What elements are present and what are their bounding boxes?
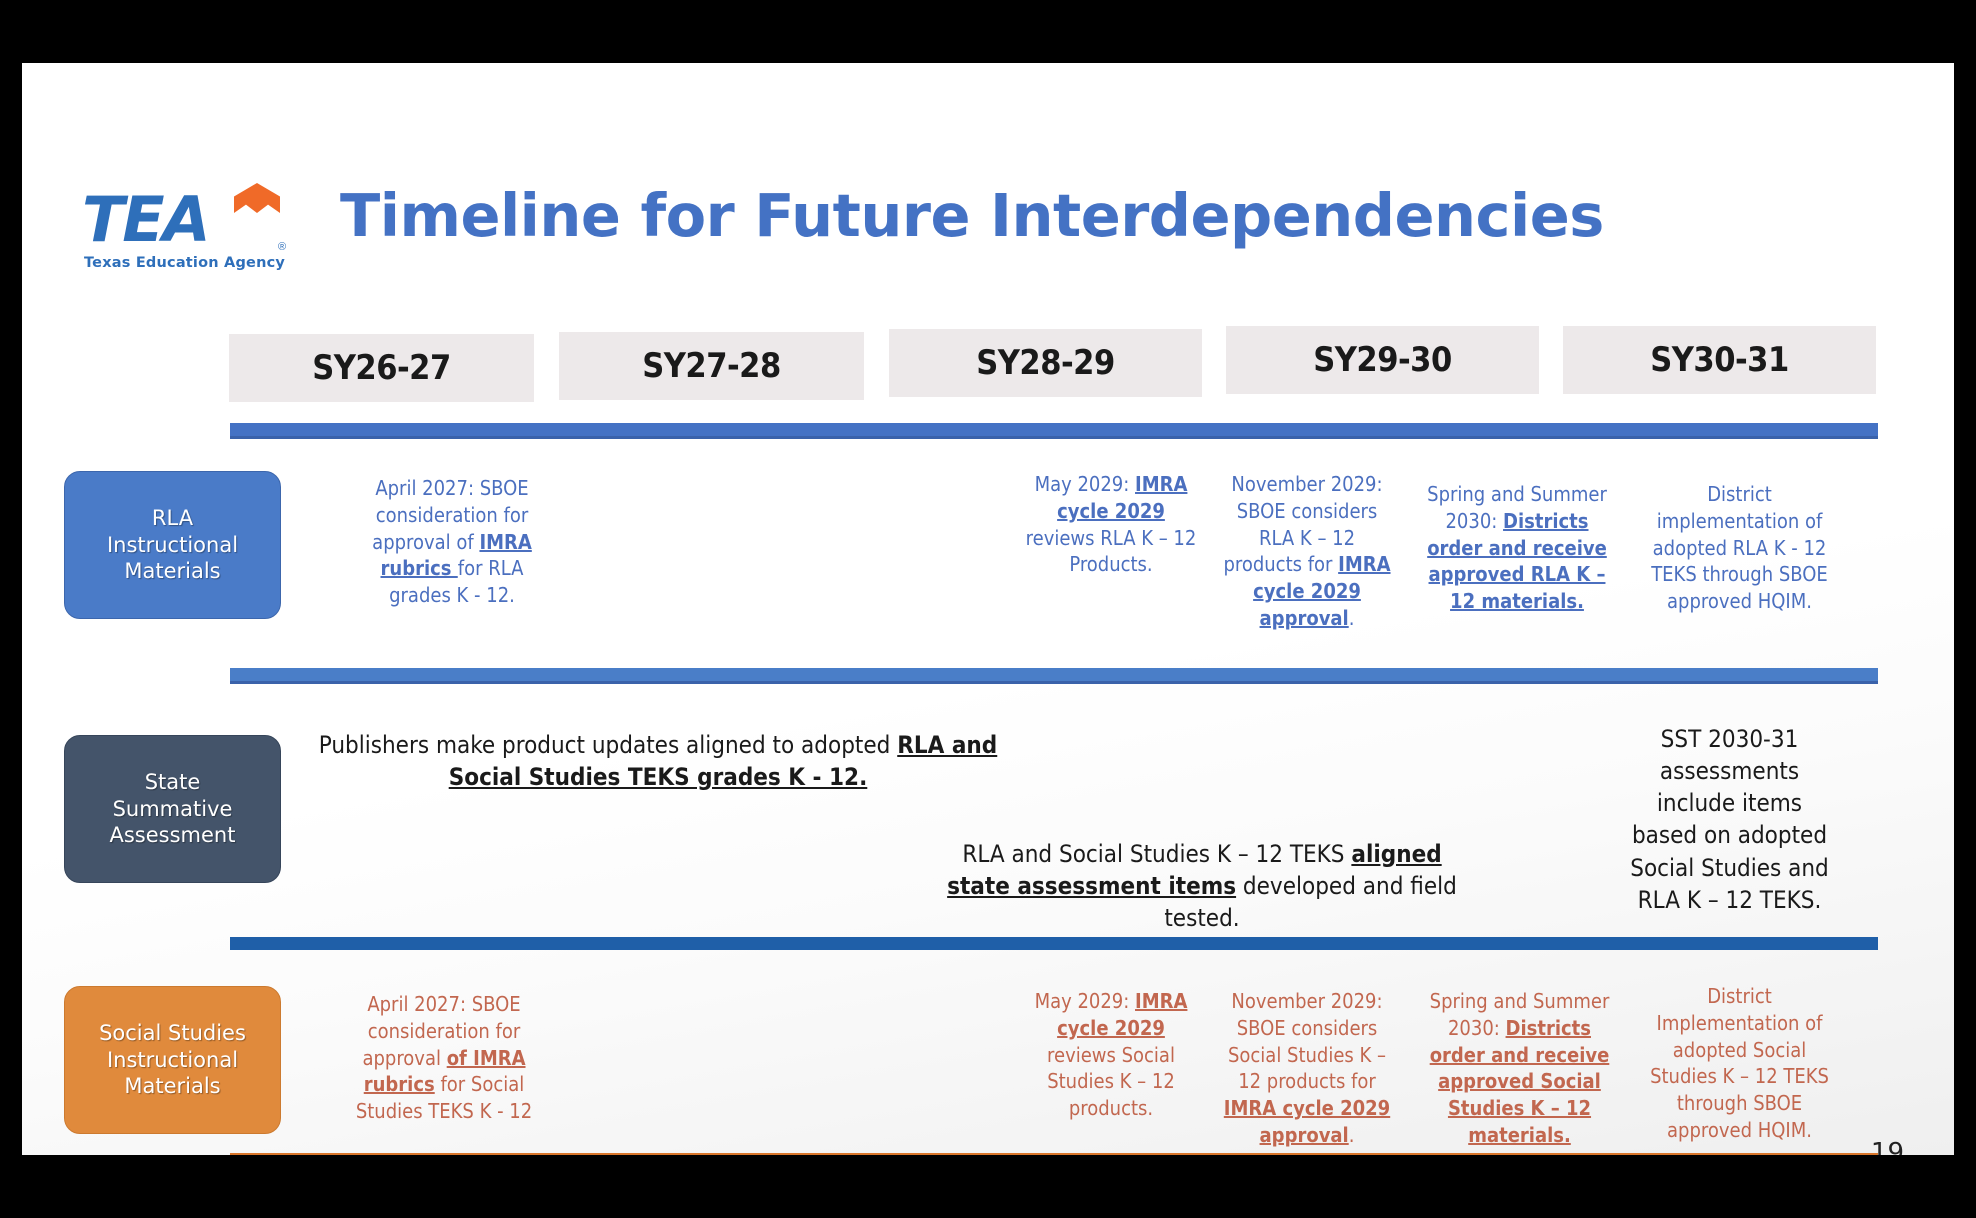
tea-wordmark: TEA xyxy=(82,189,209,251)
registered-trademark-icon: ® xyxy=(278,241,286,253)
pill-line: Summative xyxy=(113,796,233,823)
tea-logo-subtitle: Texas Education Agency xyxy=(84,255,285,271)
divider-bar-top xyxy=(230,423,1878,436)
pill-line: Assessment xyxy=(110,822,236,849)
slide-canvas: TEA ® Texas Education Agency Timeline fo… xyxy=(22,63,1954,1155)
timeline-cell: District Implementation of adopted Socia… xyxy=(1642,983,1837,1144)
timeline-cell: District implementation of adopted RLA K… xyxy=(1642,481,1837,615)
divider-bar-assessment-bottom xyxy=(230,937,1878,950)
divider-bar-social-studies-bottom xyxy=(230,1153,1878,1155)
tea-logo: TEA ® Texas Education Agency xyxy=(82,175,292,275)
timeline-cell: May 2029: IMRA cycle 2029 reviews Social… xyxy=(1022,988,1200,1122)
timeline-cell: Spring and Summer 2030: Districts order … xyxy=(1422,481,1612,615)
year-chip-sy28-29: SY28-29 xyxy=(889,329,1202,397)
year-chip-sy29-30: SY29-30 xyxy=(1226,326,1539,394)
timeline-cell: November 2029: SBOE considers Social Stu… xyxy=(1218,988,1396,1149)
pill-line: State xyxy=(145,769,201,796)
pill-line: Materials xyxy=(124,1073,220,1100)
timeline-cell: April 2027: SBOE consideration for appro… xyxy=(344,991,544,1125)
graduation-cap-icon xyxy=(234,183,280,213)
timeline-cell: April 2027: SBOE consideration for appro… xyxy=(352,475,552,609)
category-pill-rla-instructional-materials: RLA Instructional Materials xyxy=(64,471,281,619)
viewer-left-letterbox xyxy=(0,63,22,1155)
divider-bar-rla-bottom xyxy=(230,668,1878,681)
timeline-cell: May 2029: IMRA cycle 2029 reviews RLA K … xyxy=(1022,471,1200,578)
pill-line: Instructional xyxy=(107,532,238,559)
year-chip-sy30-31: SY30-31 xyxy=(1563,326,1876,394)
pill-line: RLA xyxy=(152,505,193,532)
year-chip-sy26-27: SY26-27 xyxy=(229,334,534,402)
school-year-header-row: SY26-27 SY27-28 SY28-29 SY29-30 SY30-31 xyxy=(229,326,1879,398)
timeline-cell: Spring and Summer 2030: Districts order … xyxy=(1422,988,1617,1149)
pill-line: Materials xyxy=(124,558,220,585)
slide-page-number: 19 xyxy=(1871,1138,1904,1155)
presentation-viewer: TEA ® Texas Education Agency Timeline fo… xyxy=(0,0,1976,1218)
timeline-cell: SST 2030-31 assessments include items ba… xyxy=(1622,723,1837,916)
year-chip-sy27-28: SY27-28 xyxy=(559,332,864,400)
timeline-cell: November 2029: SBOE considers RLA K – 12… xyxy=(1218,471,1396,632)
timeline-cell: RLA and Social Studies K – 12 TEKS align… xyxy=(937,838,1467,934)
pill-line: Social Studies xyxy=(99,1020,246,1047)
category-pill-social-studies-instructional-materials: Social Studies Instructional Materials xyxy=(64,986,281,1134)
timeline-cell: Publishers make product updates aligned … xyxy=(308,729,1008,793)
category-pill-state-summative-assessment: State Summative Assessment xyxy=(64,735,281,883)
page-title: Timeline for Future Interdependencies xyxy=(340,181,1604,250)
pill-line: Instructional xyxy=(107,1047,238,1074)
